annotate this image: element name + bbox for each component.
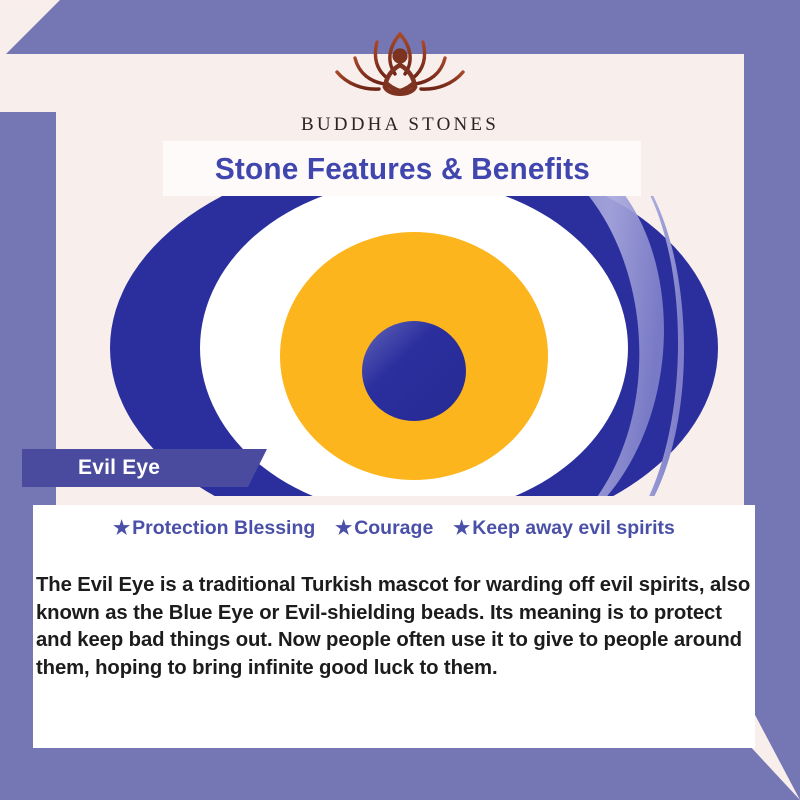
- frame-band-bottom: [0, 744, 800, 800]
- brand-wordmark: BUDDHA STONES: [0, 114, 800, 136]
- benefit-item: ★Keep away evil spirits: [453, 517, 675, 539]
- page-title: Stone Features & Benefits: [214, 151, 589, 187]
- lotus-meditation-figure-icon: [315, 18, 485, 110]
- star-icon: ★: [113, 518, 130, 539]
- promo-card: BUDDHA STONES Stone Features & Benefits: [0, 0, 800, 800]
- headline-banner: Stone Features & Benefits: [163, 141, 641, 196]
- star-icon: ★: [335, 518, 352, 539]
- star-icon: ★: [453, 518, 470, 539]
- benefits-list: ★Protection Blessing ★Courage ★Keep away…: [33, 517, 755, 540]
- brand-logo-block: BUDDHA STONES: [0, 18, 800, 136]
- benefit-label: Keep away evil spirits: [472, 517, 675, 539]
- stone-name-label: Evil Eye: [78, 456, 160, 480]
- benefit-item: ★Protection Blessing: [113, 517, 321, 539]
- stone-name-ribbon: Evil Eye: [22, 449, 267, 487]
- benefit-label: Protection Blessing: [132, 517, 315, 539]
- content-card: ★Protection Blessing ★Courage ★Keep away…: [33, 505, 755, 748]
- benefit-label: Courage: [354, 517, 433, 539]
- benefit-item: ★Courage: [335, 517, 439, 539]
- stone-description: The Evil Eye is a traditional Turkish ma…: [33, 572, 755, 682]
